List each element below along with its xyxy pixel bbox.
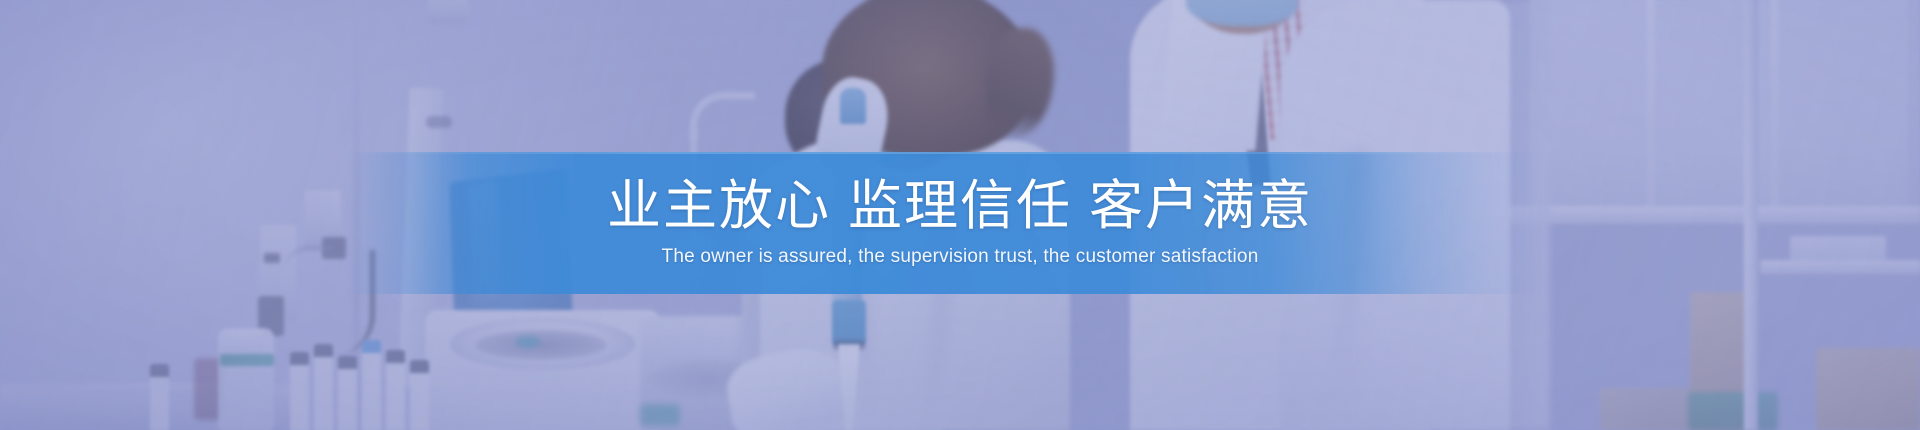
banner-text-block: 业主放心 监理信任 客户满意 The owner is assured, the… xyxy=(0,152,1920,294)
banner-subline: The owner is assured, the supervision tr… xyxy=(662,246,1259,268)
banner-headline: 业主放心 监理信任 客户满意 xyxy=(607,178,1313,235)
hero-banner: 业主放心 监理信任 客户满意 The owner is assured, the… xyxy=(0,0,1920,430)
